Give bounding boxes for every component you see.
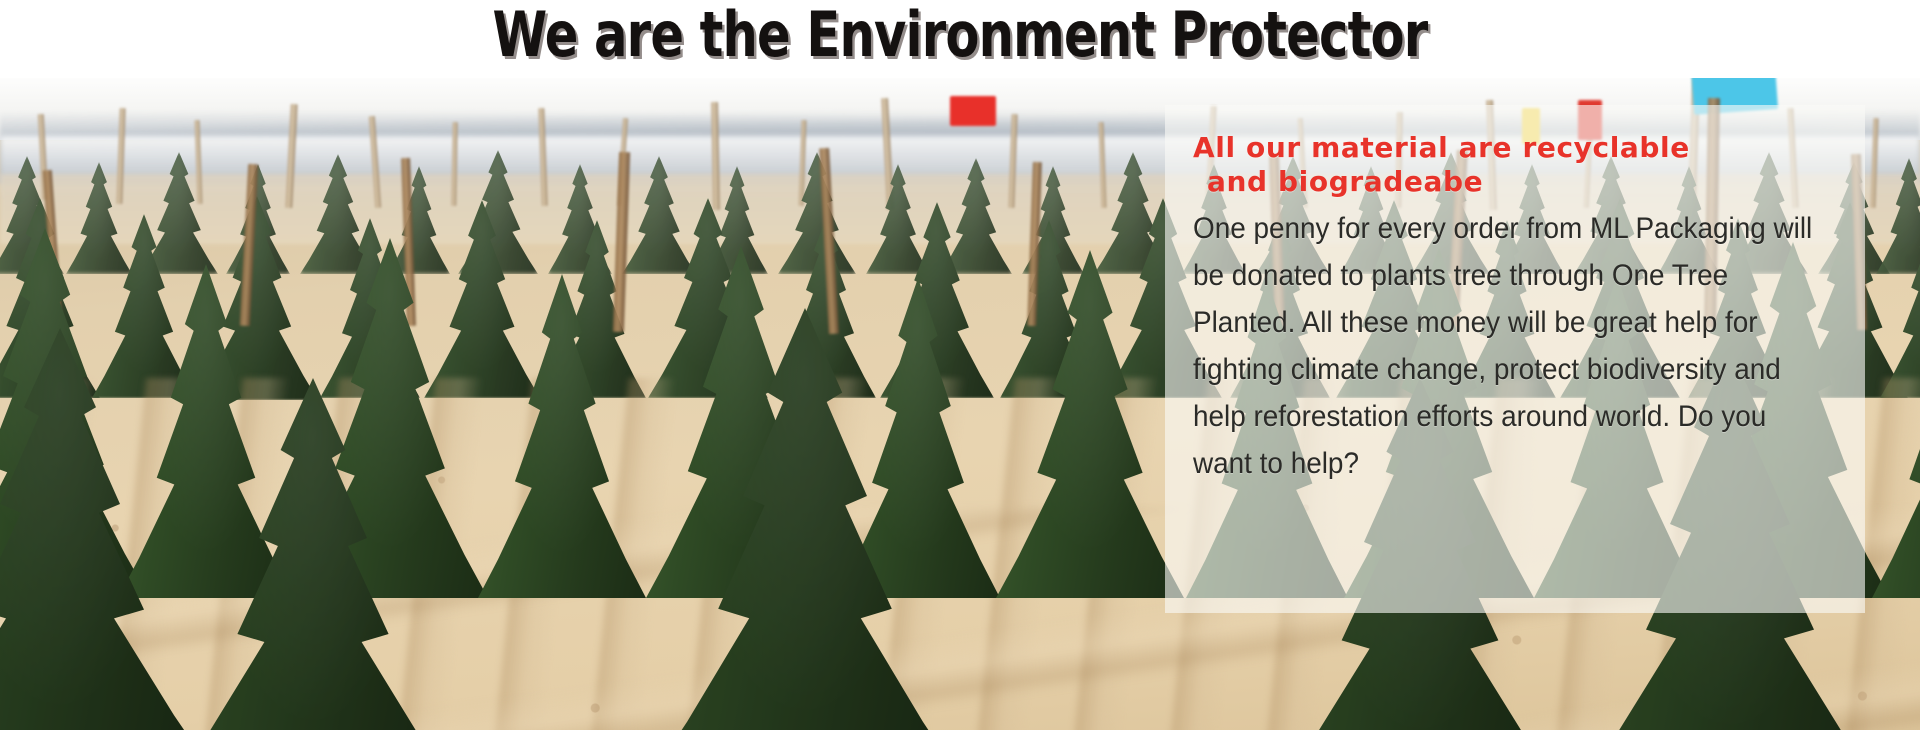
- donation-body-text: One penny for every order from ML Packag…: [1193, 205, 1832, 487]
- recyclable-heading-line-1: All our material are recyclable: [1193, 131, 1690, 164]
- environment-protector-banner: All our material are recyclable and biog…: [0, 0, 1920, 730]
- recyclable-heading: All our material are recyclable and biog…: [1193, 131, 1835, 199]
- page-title: We are the Environment Protector: [192, 2, 1728, 68]
- recyclable-heading-line-2: and biogradeabe: [1193, 165, 1835, 199]
- flag-red-left: [950, 96, 996, 126]
- recycling-message-panel: All our material are recyclable and biog…: [1165, 105, 1865, 613]
